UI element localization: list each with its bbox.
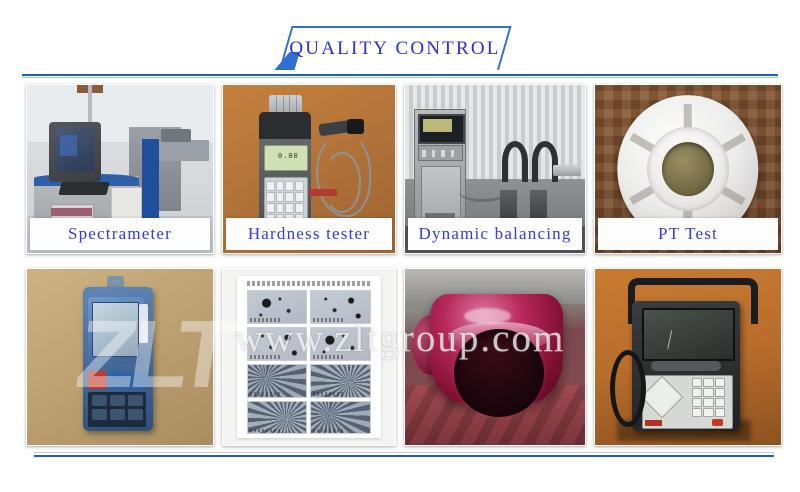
caption-spectrameter: Spectrameter [30,218,210,250]
caption-hardness-tester: Hardness tester [226,218,392,250]
ultrasonic-flaw-detector-photo [595,269,781,445]
gallery-item-hardness-tester[interactable]: 0.00 Hardness tester [222,84,396,254]
header-divider [22,74,778,76]
gallery-item-coating-gauge[interactable] [26,268,214,446]
gallery-row-2 [26,268,782,446]
coating-thickness-gauge-photo [27,269,213,445]
gallery-item-red-penetrant-impeller[interactable] [404,268,586,446]
footer-divider [34,455,774,457]
page-title: QUALITY CONTROL [285,28,505,70]
gallery-item-spectrameter[interactable]: Spectrameter [26,84,214,254]
red-dye-penetrant-impeller-photo [405,269,585,445]
metallurgical-micrograph-report-photo [223,269,395,445]
footer-divider-secondary [34,452,774,453]
quality-control-page: QUALITY CONTROL Spectrameter [0,0,800,492]
gallery-row-1: Spectrameter 0.00 Hardness test [26,84,782,254]
gallery-item-micrograph-report[interactable] [222,268,396,446]
gallery-item-pt-test[interactable]: PT Test [594,84,782,254]
gallery-item-ultrasonic-flaw-detector[interactable] [594,268,782,446]
hardness-display-value: 0.00 [275,149,303,166]
caption-pt-test: PT Test [598,218,778,250]
banner: QUALITY CONTROL [0,28,800,76]
caption-dynamic-balancing: Dynamic balancing [408,218,582,250]
header-divider-secondary [22,77,778,78]
gallery-item-dynamic-balancing[interactable]: Dynamic balancing [404,84,586,254]
